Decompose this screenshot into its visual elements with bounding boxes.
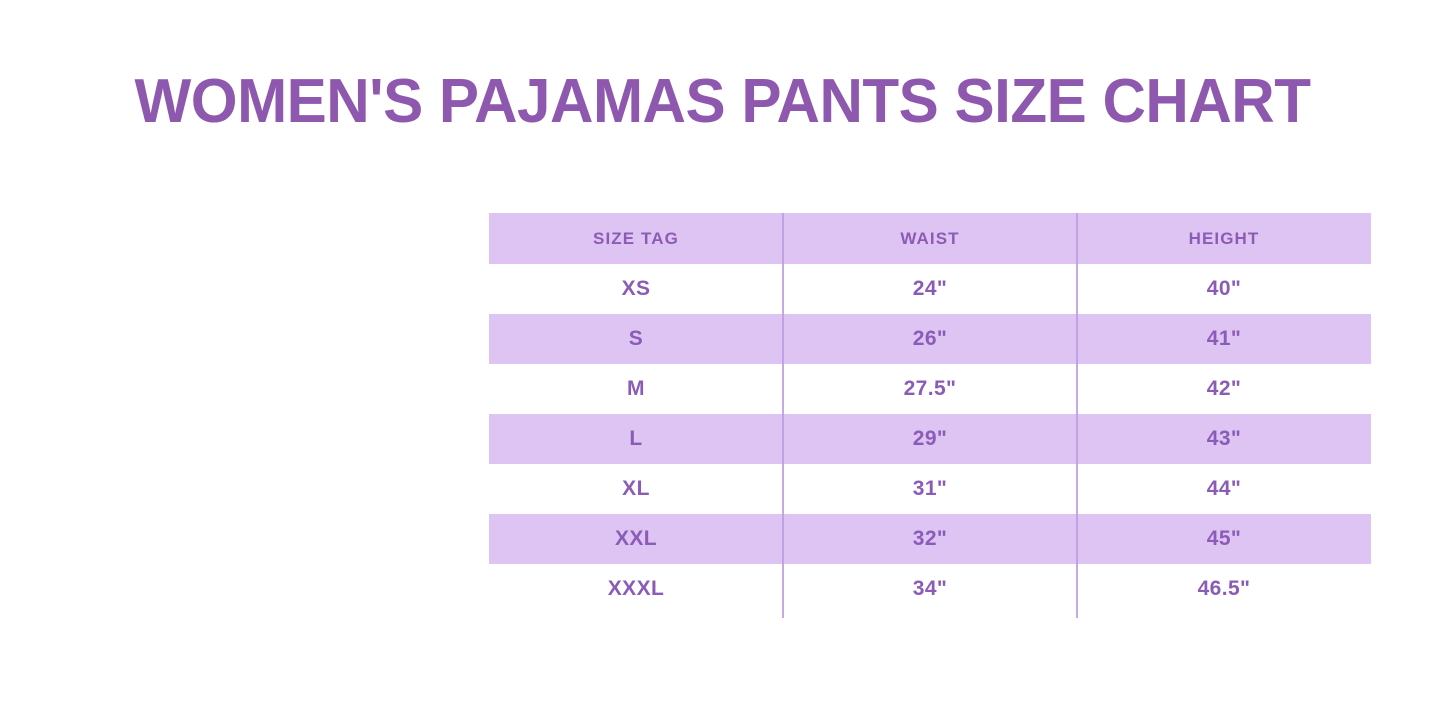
cell-height: 43" bbox=[1077, 414, 1371, 464]
cell-size-tag: XXL bbox=[489, 514, 783, 564]
table-row: M 27.5" 42" bbox=[489, 364, 1371, 414]
cell-size-tag: L bbox=[489, 414, 783, 464]
cell-waist: 29" bbox=[783, 414, 1077, 464]
cell-waist: 27.5" bbox=[783, 364, 1077, 414]
cell-waist: 24" bbox=[783, 264, 1077, 314]
cell-waist: 31" bbox=[783, 464, 1077, 514]
column-header-waist: WAIST bbox=[783, 213, 1077, 264]
column-divider-2 bbox=[1076, 213, 1078, 618]
table-row: XL 31" 44" bbox=[489, 464, 1371, 514]
column-header-size-tag: SIZE TAG bbox=[489, 213, 783, 264]
cell-height: 44" bbox=[1077, 464, 1371, 514]
cell-size-tag: XL bbox=[489, 464, 783, 514]
size-chart-table-container: SIZE TAG WAIST HEIGHT XS 24" 40" S 26" 4… bbox=[489, 213, 1371, 614]
size-chart-table: SIZE TAG WAIST HEIGHT XS 24" 40" S 26" 4… bbox=[489, 213, 1371, 614]
cell-height: 45" bbox=[1077, 514, 1371, 564]
cell-size-tag: XS bbox=[489, 264, 783, 314]
table-row: XS 24" 40" bbox=[489, 264, 1371, 314]
cell-height: 42" bbox=[1077, 364, 1371, 414]
table-header-row: SIZE TAG WAIST HEIGHT bbox=[489, 213, 1371, 264]
size-chart-page: WOMEN'S PAJAMAS PANTS SIZE CHART SIZE TA… bbox=[0, 0, 1445, 723]
cell-waist: 26" bbox=[783, 314, 1077, 364]
cell-waist: 32" bbox=[783, 514, 1077, 564]
cell-waist: 34" bbox=[783, 564, 1077, 614]
column-header-height: HEIGHT bbox=[1077, 213, 1371, 264]
cell-size-tag: XXXL bbox=[489, 564, 783, 614]
table-row: XXXL 34" 46.5" bbox=[489, 564, 1371, 614]
cell-height: 40" bbox=[1077, 264, 1371, 314]
table-row: L 29" 43" bbox=[489, 414, 1371, 464]
cell-size-tag: S bbox=[489, 314, 783, 364]
cell-height: 46.5" bbox=[1077, 564, 1371, 614]
page-title: WOMEN'S PAJAMAS PANTS SIZE CHART bbox=[22, 66, 1424, 138]
cell-size-tag: M bbox=[489, 364, 783, 414]
table-row: S 26" 41" bbox=[489, 314, 1371, 364]
column-divider-1 bbox=[782, 213, 784, 618]
cell-height: 41" bbox=[1077, 314, 1371, 364]
table-row: XXL 32" 45" bbox=[489, 514, 1371, 564]
